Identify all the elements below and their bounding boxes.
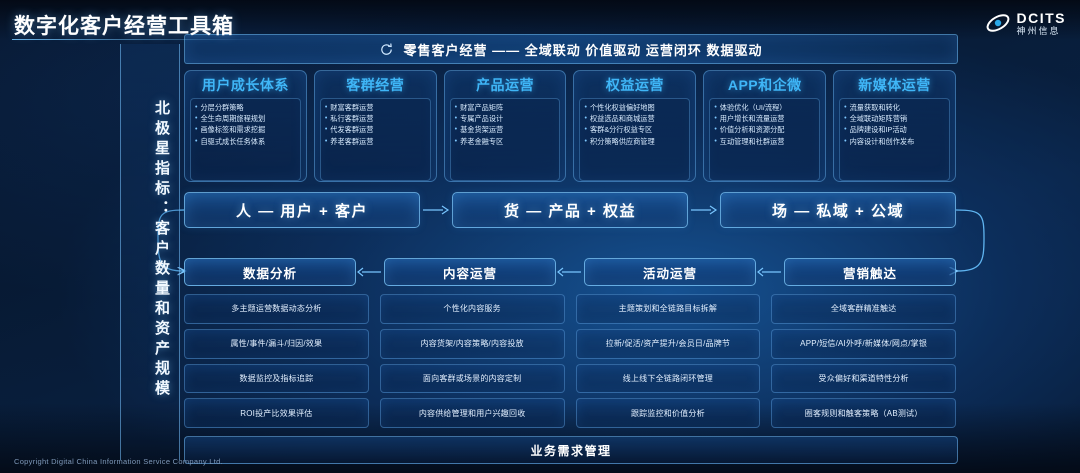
card-title: 新媒体运营: [858, 75, 931, 95]
grid-cell[interactable]: 主题策划和全链路目标拆解: [576, 294, 761, 324]
grid-cell[interactable]: APP/短信/AI外呼/新媒体/网点/掌银: [771, 329, 956, 359]
card-list-text: 专属产品设计: [460, 114, 503, 124]
operation-stage-row: 数据分析 内容运营 活动运营 营销触达: [184, 258, 956, 286]
card-list-item: •基金货架运营: [455, 125, 558, 136]
bullet-icon: •: [325, 114, 327, 124]
card-list-item: •个性化权益偏好地图: [584, 102, 687, 113]
bullet-icon: •: [455, 125, 457, 135]
bullet-icon: •: [584, 103, 586, 113]
capability-cards: 用户成长体系 •分层分群策略 •全生命周期旅程规划 •画像标签和需求挖掘 •自驱…: [184, 70, 956, 182]
arrow-left-icon: [356, 266, 384, 278]
grid-cell[interactable]: 内容货架/内容策略/内容投放: [380, 329, 565, 359]
card-list-item: •代发客群运营: [325, 125, 428, 136]
card-list-item: •客群&分行权益专区: [584, 125, 687, 136]
card-app-wecom[interactable]: APP和企微 •体验优化（UI/流程） •用户增长和流量运营 •价值分析和资源分…: [703, 70, 826, 182]
card-list-item: •专属产品设计: [455, 113, 558, 124]
card-list-item: •画像标签和需求挖掘: [195, 125, 298, 136]
card-body: •分层分群策略 •全生命周期旅程规划 •画像标签和需求挖掘 •自驱式成长任务体系: [190, 98, 301, 181]
slide-canvas: 数字化客户经营工具箱 DCITS 神州信息 北极星指标：客户数量和资产规模 零售…: [0, 0, 1080, 473]
card-list-text: 流量获取和转化: [850, 103, 900, 113]
grid-cell[interactable]: 圈客规则和触客策略（AB测试）: [771, 398, 956, 428]
card-list-text: 基金货架运营: [460, 125, 503, 135]
card-list-text: 权益选品和商城运营: [590, 114, 655, 124]
bullet-icon: •: [714, 114, 716, 124]
grid-column-content-ops: 个性化内容服务 内容货架/内容策略/内容投放 面向客群或场景的内容定制 内容供给…: [380, 294, 565, 428]
bullet-icon: •: [584, 137, 586, 147]
card-list-item: •流量获取和转化: [844, 102, 947, 113]
arrow-right-icon: [420, 204, 452, 216]
logo-text-en: DCITS: [1017, 11, 1067, 25]
title-underline: [12, 39, 262, 40]
grid-cell[interactable]: 拉新/促活/资产提升/会员日/品牌节: [576, 329, 761, 359]
people-goods-place-row: 人 — 用户 + 客户 货 — 产品 + 权益 场 — 私域 + 公域: [184, 192, 956, 228]
bullet-icon: •: [325, 103, 327, 113]
card-body: •体验优化（UI/流程） •用户增长和流量运营 •价值分析和资源分配 •互动管理…: [709, 98, 820, 181]
card-list-text: 画像标签和需求挖掘: [200, 125, 265, 135]
card-title: 权益运营: [606, 75, 664, 95]
grid-cell[interactable]: ROI投产比效果评估: [184, 398, 369, 428]
card-list-item: •养老客群运营: [325, 136, 428, 147]
grid-cell[interactable]: 线上线下全链路闭环管理: [576, 364, 761, 394]
bullet-icon: •: [584, 114, 586, 124]
card-user-growth[interactable]: 用户成长体系 •分层分群策略 •全生命周期旅程规划 •画像标签和需求挖掘 •自驱…: [184, 70, 307, 182]
card-list-item: •体验优化（UI/流程）: [714, 102, 817, 113]
card-list-text: 互动管理和社群运营: [720, 137, 785, 147]
bullet-icon: •: [714, 125, 716, 135]
card-benefits-ops[interactable]: 权益运营 •个性化权益偏好地图 •权益选品和商城运营 •客群&分行权益专区 •积…: [573, 70, 696, 182]
business-demand-bar[interactable]: 业务需求管理: [184, 436, 958, 464]
card-list-text: 客群&分行权益专区: [590, 125, 652, 135]
card-new-media[interactable]: 新媒体运营 •流量获取和转化 •全域联动矩阵营销 •品牌建设和IP活动 •内容设…: [833, 70, 956, 182]
north-star-label: 北极星指标：客户数量和资产规模: [126, 100, 172, 400]
grid-column-campaign-ops: 主题策划和全链路目标拆解 拉新/促活/资产提升/会员日/品牌节 线上线下全链路闭…: [576, 294, 761, 428]
bullet-icon: •: [844, 137, 846, 147]
card-list-item: •私行客群运营: [325, 113, 428, 124]
card-list-text: 财富客群运营: [330, 103, 373, 113]
grid-cell[interactable]: 跟踪监控和价值分析: [576, 398, 761, 428]
card-list-text: 内容设计和创作发布: [850, 137, 915, 147]
hgc-box-goods[interactable]: 货 — 产品 + 权益: [452, 192, 688, 228]
card-list-item: •财富产品矩阵: [455, 102, 558, 113]
hgc-box-place[interactable]: 场 — 私域 + 公域: [720, 192, 956, 228]
card-list-item: •全域联动矩阵营销: [844, 113, 947, 124]
card-title: 产品运营: [476, 75, 534, 95]
bullet-icon: •: [714, 137, 716, 147]
bullet-icon: •: [195, 103, 197, 113]
brand-logo: DCITS 神州信息: [985, 10, 1067, 36]
card-list-text: 私行客群运营: [330, 114, 373, 124]
card-list-text: 品牌建设和IP活动: [850, 125, 907, 135]
dcits-swirl-icon: [985, 10, 1011, 36]
card-title: 用户成长体系: [202, 75, 289, 95]
grid-cell[interactable]: 多主题运营数据动态分析: [184, 294, 369, 324]
logo-text-cn: 神州信息: [1017, 27, 1067, 36]
card-list-text: 财富产品矩阵: [460, 103, 503, 113]
grid-cell[interactable]: 属性/事件/漏斗/归因/效果: [184, 329, 369, 359]
card-body: •财富客群运营 •私行客群运营 •代发客群运营 •养老客群运营: [320, 98, 431, 181]
banner-label: 零售客户经营 —— 全域联动 价值驱动 运营闭环 数据驱动: [403, 40, 762, 59]
refresh-cycle-icon: [379, 42, 394, 57]
card-list-text: 用户增长和流量运营: [720, 114, 785, 124]
card-list-text: 个性化权益偏好地图: [590, 103, 655, 113]
bullet-icon: •: [195, 114, 197, 124]
grid-cell[interactable]: 面向客群或场景的内容定制: [380, 364, 565, 394]
card-list-item: •品牌建设和IP活动: [844, 125, 947, 136]
grid-cell[interactable]: 内容供给管理和用户兴趣回收: [380, 398, 565, 428]
card-list-text: 体验优化（UI/流程）: [720, 103, 787, 113]
hgc-box-people[interactable]: 人 — 用户 + 客户: [184, 192, 420, 228]
bullet-icon: •: [195, 137, 197, 147]
card-product-ops[interactable]: 产品运营 •财富产品矩阵 •专属产品设计 •基金货架运营 •养老金融专区: [444, 70, 567, 182]
card-list-item: •分层分群策略: [195, 102, 298, 113]
bullet-icon: •: [584, 125, 586, 135]
card-list-item: •用户增长和流量运营: [714, 113, 817, 124]
card-list-item: •自驱式成长任务体系: [195, 136, 298, 147]
card-body: •个性化权益偏好地图 •权益选品和商城运营 •客群&分行权益专区 •积分策略供应…: [579, 98, 690, 181]
card-list-item: •养老金融专区: [455, 136, 558, 147]
bullet-icon: •: [844, 125, 846, 135]
bullet-icon: •: [844, 103, 846, 113]
card-title: 客群经营: [346, 75, 404, 95]
stage-data-analysis[interactable]: 数据分析: [184, 258, 356, 286]
card-list-text: 全生命周期旅程规划: [200, 114, 265, 124]
card-list-item: •权益选品和商城运营: [584, 113, 687, 124]
stage-content-ops[interactable]: 内容运营: [384, 258, 556, 286]
grid-cell[interactable]: 受众偏好和渠道特性分析: [771, 364, 956, 394]
grid-cell[interactable]: 数据监控及指标追踪: [184, 364, 369, 394]
card-list-text: 养老金融专区: [460, 137, 503, 147]
card-customer-group[interactable]: 客群经营 •财富客群运营 •私行客群运营 •代发客群运营 •养老客群运营: [314, 70, 437, 182]
grid-cell[interactable]: 个性化内容服务: [380, 294, 565, 324]
card-list-text: 分层分群策略: [200, 103, 243, 113]
bullet-icon: •: [455, 114, 457, 124]
bullet-icon: •: [325, 137, 327, 147]
grid-column-data-analysis: 多主题运营数据动态分析 属性/事件/漏斗/归因/效果 数据监控及指标追踪 ROI…: [184, 294, 369, 428]
card-list-item: •价值分析和资源分配: [714, 125, 817, 136]
stage-marketing-reach[interactable]: 营销触达: [784, 258, 956, 286]
card-list-item: •内容设计和创作发布: [844, 136, 947, 147]
card-body: •财富产品矩阵 •专属产品设计 •基金货架运营 •养老金融专区: [450, 98, 561, 181]
grid-column-marketing-reach: 全域客群精准触达 APP/短信/AI外呼/新媒体/网点/掌银 受众偏好和渠道特性…: [771, 294, 956, 428]
card-list-item: •积分策略供应商管理: [584, 136, 687, 147]
stage-campaign-ops[interactable]: 活动运营: [584, 258, 756, 286]
arrow-right-icon: [688, 204, 720, 216]
copyright-text: Copyright Digital China Information Serv…: [14, 457, 223, 466]
page-title: 数字化客户经营工具箱: [14, 10, 234, 40]
detail-grid: 多主题运营数据动态分析 属性/事件/漏斗/归因/效果 数据监控及指标追踪 ROI…: [184, 294, 956, 428]
card-list-text: 养老客群运营: [330, 137, 373, 147]
bullet-icon: •: [844, 114, 846, 124]
arrow-left-icon: [756, 266, 784, 278]
bullet-icon: •: [195, 125, 197, 135]
bullet-icon: •: [455, 137, 457, 147]
bullet-icon: •: [325, 125, 327, 135]
card-list-text: 全域联动矩阵营销: [850, 114, 908, 124]
grid-cell[interactable]: 全域客群精准触达: [771, 294, 956, 324]
card-list-text: 代发客群运营: [330, 125, 373, 135]
card-list-text: 自驱式成长任务体系: [200, 137, 265, 147]
card-list-item: •全生命周期旅程规划: [195, 113, 298, 124]
card-title: APP和企微: [728, 75, 802, 95]
card-body: •流量获取和转化 •全域联动矩阵营销 •品牌建设和IP活动 •内容设计和创作发布: [839, 98, 950, 181]
retail-banner: 零售客户经营 —— 全域联动 价值驱动 运营闭环 数据驱动: [184, 34, 958, 64]
card-list-item: •财富客群运营: [325, 102, 428, 113]
bullet-icon: •: [455, 103, 457, 113]
card-list-text: 积分策略供应商管理: [590, 137, 655, 147]
bullet-icon: •: [714, 103, 716, 113]
arrow-left-icon: [556, 266, 584, 278]
card-list-text: 价值分析和资源分配: [720, 125, 785, 135]
card-list-item: •互动管理和社群运营: [714, 136, 817, 147]
